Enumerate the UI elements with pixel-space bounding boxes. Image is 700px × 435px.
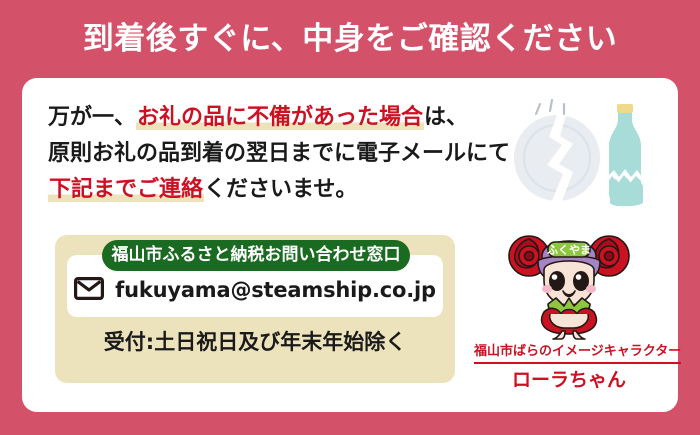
body-paragraph: 万が一、お礼の品に不備があった場合は、 原則お礼の品到着の翌日までに電子メールに…: [48, 100, 498, 208]
body-line-3-highlight: 下記までご連絡: [48, 177, 204, 202]
cheek-left: [542, 285, 552, 293]
white-content-card: 万が一、お礼の品に不備があった場合は、 原則お礼の品到着の翌日までに電子メールに…: [22, 78, 678, 412]
email-address[interactable]: fukuyama@steamship.co.jp: [115, 280, 436, 301]
reception-hours-row: 受付:土日祝日及び年末年始除く: [55, 332, 455, 353]
arms: [550, 314, 589, 328]
body-line-2-text: 原則お礼の品到着の翌日までに電子メールにて: [48, 141, 510, 166]
body-line-1-pre: 万が一、: [48, 105, 136, 130]
contact-window-pill: 福山市ふるさと納税お問い合わせ窓口: [102, 240, 410, 271]
contact-window-label: 福山市ふるさと納税お問い合わせ窓口: [112, 247, 401, 264]
page-title: 到着後すぐに、中身をご確認ください: [83, 24, 618, 55]
mascot-caption-name: ローラちゃん: [474, 370, 664, 391]
broken-goods-illustration: [500, 90, 670, 215]
contact-box: 福山市ふるさと納税お問い合わせ窓口 fukuyama@steamship.co.…: [55, 235, 455, 383]
rola-chan-mascot-icon: ふくやま: [504, 218, 634, 340]
bottle-lower-shard: [610, 178, 643, 206]
mascot-block: ふくやま 福山市ばらのイメージキャラクター ローラちゃん: [474, 218, 664, 398]
body-line-3-post: くださいませ。: [204, 177, 357, 202]
cheek-right: [586, 285, 596, 293]
hat-band-text: ふくやま: [547, 244, 591, 257]
body-line-1-post: は、: [424, 105, 468, 130]
bottle-cap: [617, 104, 633, 113]
mascot-caption: 福山市ばらのイメージキャラクター ローラちゃん: [474, 340, 664, 391]
notice-card: 到着後すぐに、中身をご確認ください 万が一、お礼の品に不備があった場合は、 原則…: [0, 0, 700, 435]
impact-lines: [536, 100, 564, 114]
email-row[interactable]: fukuyama@steamship.co.jp: [55, 277, 455, 304]
body-line-1-highlight: お礼の品に不備があった場合: [136, 105, 424, 130]
body-line-3: 下記までご連絡くださいませ。: [48, 172, 498, 208]
header-band: 到着後すぐに、中身をご確認ください: [0, 0, 700, 78]
reception-hours: 受付:土日祝日及び年末年始除く: [104, 330, 406, 354]
body-line-1: 万が一、お礼の品に不備があった場合は、: [48, 100, 498, 136]
body-line-2: 原則お礼の品到着の翌日までに電子メールにて: [48, 136, 498, 172]
mascot-caption-top: 福山市ばらのイメージキャラクター: [474, 345, 681, 364]
envelope-icon: [74, 277, 104, 304]
